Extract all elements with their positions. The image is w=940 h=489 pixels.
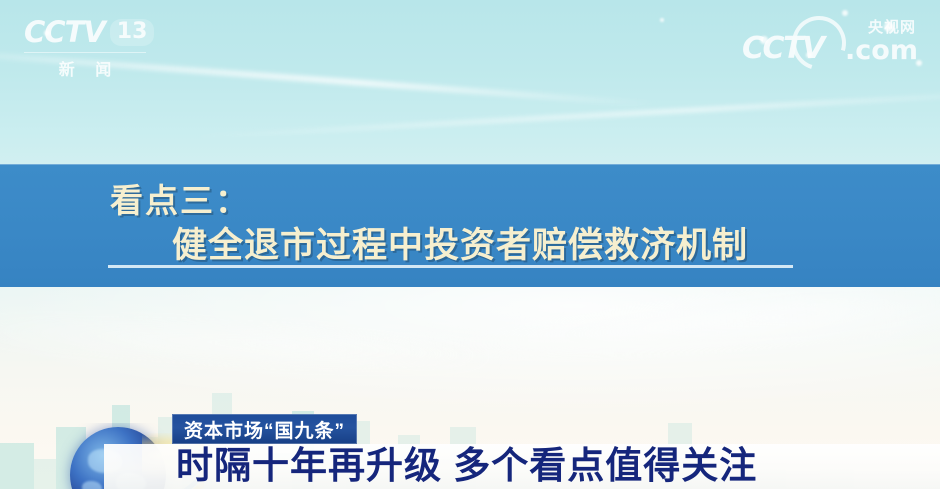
- channel-subtitle: 新 闻: [24, 52, 146, 80]
- banner-underline: [108, 265, 793, 268]
- bokeh-dot: [660, 18, 664, 22]
- watermark-com-text: .com: [845, 37, 918, 64]
- headline-text: 时隔十年再升级 多个看点值得关注: [176, 443, 757, 488]
- watermark-cctv-text: CCTV: [742, 34, 824, 64]
- watermark-inner: CCTV 央视网 .com: [742, 14, 918, 68]
- cctv13-logo-row: CCTV 13: [24, 18, 146, 47]
- broadcast-frame: CCTV 13 新 闻 CCTV 央视网 .com 看点三： 健全退市过程中投资…: [0, 0, 940, 489]
- highlight-banner: 看点三： 健全退市过程中投资者赔偿救济机制: [0, 164, 940, 287]
- kicker-label: 资本市场“国九条”: [184, 416, 345, 443]
- cctv13-logo: CCTV 13 新 闻: [24, 18, 146, 80]
- watermark-chinese-text: 央视网: [868, 20, 916, 35]
- kicker-badge: 资本市场“国九条”: [172, 414, 357, 444]
- cctv-com-watermark: CCTV 央视网 .com: [742, 14, 918, 68]
- cctv-wordmark: CCTV: [24, 18, 105, 47]
- channel-number-badge: 13: [110, 19, 155, 46]
- banner-statement: 健全退市过程中投资者赔偿救济机制: [172, 217, 748, 268]
- banner-eyebrow: 看点三：: [110, 174, 250, 222]
